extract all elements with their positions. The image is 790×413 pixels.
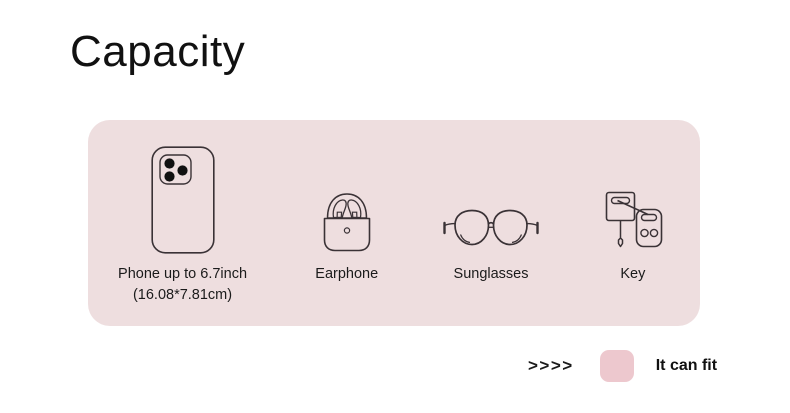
sunglasses-icon-box	[441, 138, 541, 254]
capacity-item-sunglasses-label: Sunglasses	[454, 264, 529, 285]
capacity-item-phone-label: Phone up to 6.7inch (16.08*7.81cm)	[118, 264, 247, 306]
sunglasses-icon	[441, 202, 541, 254]
capacity-item-key-label: Key	[620, 264, 645, 285]
legend-color-swatch	[600, 350, 634, 382]
phone-icon-box	[151, 138, 215, 254]
capacity-item-key: Key	[566, 138, 700, 285]
key-icon-box	[600, 138, 666, 254]
capacity-panel: Phone up to 6.7inch (16.08*7.81cm)	[88, 120, 700, 326]
capacity-item-earphone-label: Earphone	[315, 264, 378, 285]
legend: >>>> It can fit	[528, 350, 717, 382]
capacity-item-phone: Phone up to 6.7inch (16.08*7.81cm)	[88, 138, 277, 306]
capacity-item-sunglasses: Sunglasses	[416, 138, 565, 285]
key-icon	[600, 188, 666, 254]
chevron-right-arrows-icon: >>>>	[528, 356, 574, 376]
page-title: Capacity	[70, 28, 245, 76]
phone-icon	[151, 146, 215, 254]
earphone-icon-box	[317, 138, 377, 254]
earphone-case-icon	[317, 188, 377, 254]
capacity-items-row: Phone up to 6.7inch (16.08*7.81cm)	[88, 120, 700, 326]
capacity-item-earphone: Earphone	[277, 138, 416, 285]
legend-label: It can fit	[656, 357, 717, 375]
